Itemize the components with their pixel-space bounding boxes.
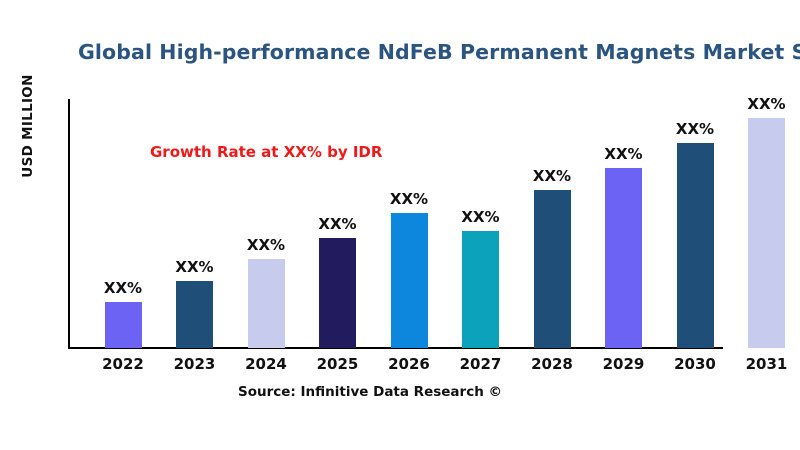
bar-value-label: XX% <box>90 279 156 297</box>
bar[interactable] <box>462 231 499 348</box>
bar-value-label: XX% <box>233 236 299 254</box>
bar-group[interactable] <box>162 281 228 348</box>
bar-value-label: XX% <box>162 258 228 276</box>
x-axis-tick-label: 2026 <box>376 355 442 373</box>
x-axis-tick-label: 2029 <box>591 355 657 373</box>
bar[interactable] <box>176 281 213 348</box>
bar-value-label: XX% <box>376 190 442 208</box>
bar[interactable] <box>391 213 428 348</box>
growth-rate-annotation: Growth Rate at XX% by IDR <box>150 143 382 161</box>
bar[interactable] <box>677 143 714 348</box>
bar-value-label: XX% <box>519 167 585 185</box>
bar-value-label: XX% <box>662 120 728 138</box>
bar[interactable] <box>534 190 571 348</box>
bar-group[interactable] <box>519 190 585 348</box>
bar-group[interactable] <box>305 238 371 348</box>
bars-layer: XX%XX%XX%XX%XX%XX%XX%XX%XX%XX% <box>68 99 792 349</box>
bar-group[interactable] <box>233 259 299 348</box>
bar[interactable] <box>748 118 785 348</box>
bar[interactable] <box>319 238 356 348</box>
x-axis-tick-label: 2031 <box>734 355 800 373</box>
x-axis-tick-label: 2022 <box>90 355 156 373</box>
bar-chart: Global High-performance NdFeB Permanent … <box>0 0 800 450</box>
source-caption: Source: Infinitive Data Research © <box>0 384 740 400</box>
bar-group[interactable] <box>591 168 657 348</box>
x-axis-tick-label: 2030 <box>662 355 728 373</box>
bar-value-label: XX% <box>305 215 371 233</box>
bar-group[interactable] <box>448 231 514 348</box>
bar[interactable] <box>105 302 142 348</box>
bar-value-label: XX% <box>448 208 514 226</box>
bar-group[interactable] <box>662 143 728 348</box>
x-axis-tick-label: 2027 <box>448 355 514 373</box>
x-axis-tick-label: 2023 <box>162 355 228 373</box>
plot-area: XX%XX%XX%XX%XX%XX%XX%XX%XX%XX% <box>68 99 792 349</box>
bar-group[interactable] <box>376 213 442 348</box>
bar-group[interactable] <box>90 302 156 348</box>
bar-group[interactable] <box>734 118 800 348</box>
x-axis-tick-label: 2025 <box>305 355 371 373</box>
x-axis-tick-label: 2024 <box>233 355 299 373</box>
x-axis-tick-label: 2028 <box>519 355 585 373</box>
x-axis-category-labels: 2022202320242025202620272028202920302031 <box>68 355 792 379</box>
bar[interactable] <box>248 259 285 348</box>
bar-value-label: XX% <box>591 145 657 163</box>
bar-value-label: XX% <box>734 95 800 113</box>
y-axis-title: USD MILLION <box>20 46 36 206</box>
chart-title: Global High-performance NdFeB Permanent … <box>78 40 800 64</box>
bar[interactable] <box>605 168 642 348</box>
